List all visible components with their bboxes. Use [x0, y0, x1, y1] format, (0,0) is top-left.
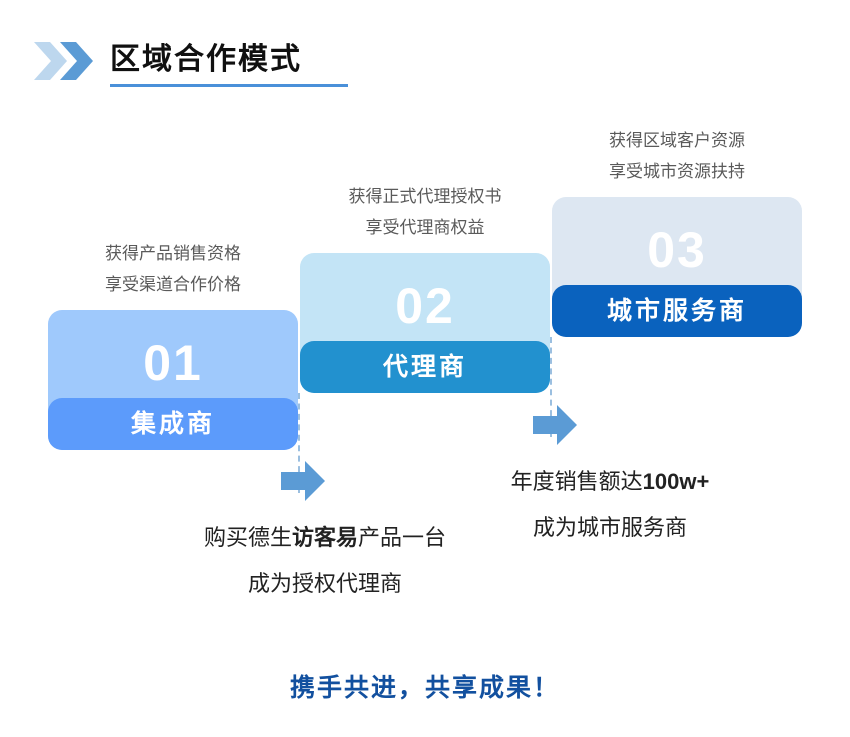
step-caption-03: 获得区域客户资源 享受城市资源扶持: [552, 125, 802, 187]
step-caption-02-line2: 享受代理商权益: [300, 212, 550, 243]
condition-2-line1: 年度销售额达100w+: [440, 459, 780, 505]
condition-1-line1-bold: 访客易: [292, 525, 358, 550]
condition-2-line1-pre: 年度销售额达: [511, 469, 643, 494]
footer-slogan: 携手共进，共享成果！: [0, 668, 850, 704]
block-arrow-right-icon-1: [281, 461, 325, 501]
step-label-02: 代理商: [300, 341, 550, 393]
condition-1-line1-pre: 购买德生: [204, 525, 292, 550]
step-caption-02: 获得正式代理授权书 享受代理商权益: [300, 181, 550, 243]
condition-2-line2: 成为城市服务商: [440, 505, 780, 551]
step-card-01[interactable]: 01 集成商: [48, 310, 298, 450]
step-label-03: 城市服务商: [552, 285, 802, 337]
step-label-01: 集成商: [48, 398, 298, 450]
step-caption-01-line1: 获得产品销售资格: [48, 238, 298, 269]
step-caption-01-line2: 享受渠道合作价格: [48, 269, 298, 300]
step-caption-03-line2: 享受城市资源扶持: [552, 156, 802, 187]
block-arrow-right-icon-2: [533, 405, 577, 445]
step-caption-01: 获得产品销售资格 享受渠道合作价格: [48, 238, 298, 300]
step-caption-03-line1: 获得区域客户资源: [552, 125, 802, 156]
step-number-01: 01: [48, 338, 298, 388]
partnership-steps: 获得产品销售资格 享受渠道合作价格 01 集成商 获得正式代理授权书 享受代理商…: [0, 0, 850, 737]
step-number-02: 02: [300, 281, 550, 331]
step-card-03[interactable]: 03 城市服务商: [552, 197, 802, 337]
condition-2-line1-bold: 100w+: [643, 469, 710, 494]
step-number-03: 03: [552, 225, 802, 275]
step-card-02[interactable]: 02 代理商: [300, 253, 550, 393]
condition-text-2: 年度销售额达100w+ 成为城市服务商: [440, 459, 780, 551]
step-caption-02-line1: 获得正式代理授权书: [300, 181, 550, 212]
condition-1-line2: 成为授权代理商: [155, 561, 495, 607]
condition-1-line1-post: 产品一台: [358, 525, 446, 550]
